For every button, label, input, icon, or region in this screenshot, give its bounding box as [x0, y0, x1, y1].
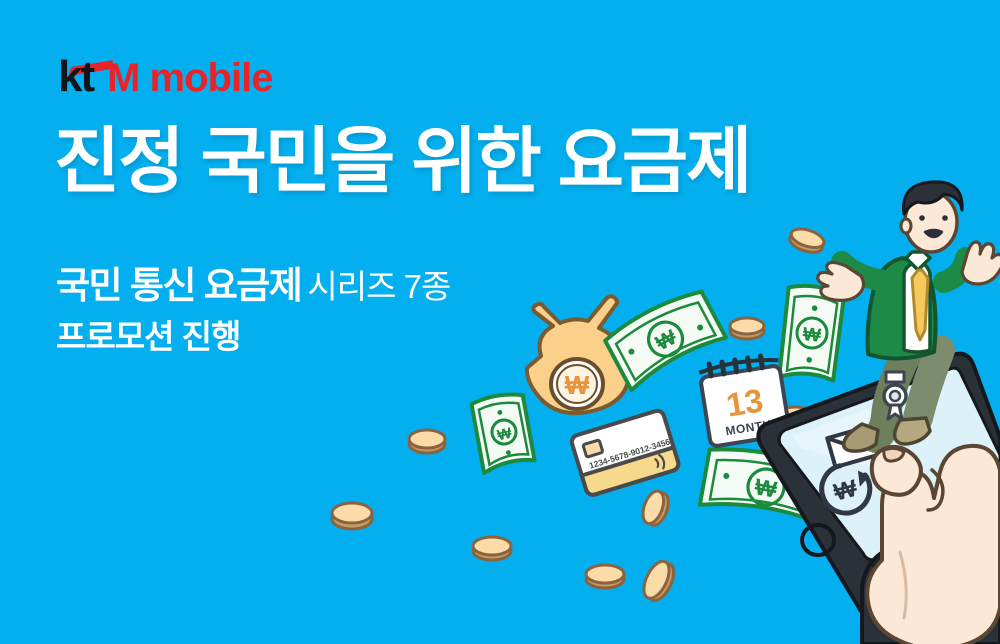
envelope-icon	[827, 423, 889, 467]
subheadline-light-text: 시리즈 7종	[307, 268, 450, 305]
money-bag-icon: ₩	[527, 296, 629, 413]
eye	[919, 215, 925, 221]
banknote-icon: ₩	[779, 284, 844, 383]
shoe-icon	[895, 418, 930, 444]
banknote-icon: ₩	[700, 443, 833, 526]
svg-text:₩: ₩	[831, 475, 860, 507]
holding-hand	[862, 446, 1000, 644]
logo-m-mobile-text: M mobile	[107, 58, 272, 98]
contactless-icon	[654, 454, 665, 470]
medal-icon	[884, 372, 906, 419]
calendar-day-number: 13	[724, 381, 766, 423]
logo-kt-text: kt	[58, 52, 93, 101]
subheadline-line-1: 국민 통신 요금제시리즈 7종	[56, 262, 450, 311]
svg-text:₩: ₩	[802, 324, 822, 347]
coin-icon	[730, 318, 764, 339]
coin-icon	[639, 557, 679, 604]
person-illustration	[818, 182, 1000, 451]
kt-m-mobile-logo[interactable]: kt M mobile	[58, 55, 272, 99]
promo-banner: ₩ 1234-5678-9012-3456 ₩	[0, 0, 1000, 644]
calendar-icon: 13 MONTH	[698, 353, 790, 447]
svg-text:₩: ₩	[753, 473, 779, 502]
coin-icon	[787, 225, 826, 255]
coin-icon	[409, 430, 445, 453]
svg-text:₩: ₩	[496, 424, 514, 444]
hand-icon	[818, 262, 864, 300]
shoe-icon	[844, 424, 878, 451]
logo-kt-mark: kt	[58, 55, 97, 99]
eye	[942, 215, 948, 221]
coin-icon	[778, 407, 812, 428]
calendar-unit-label: MONTH	[725, 417, 773, 438]
subheadline: 국민 통신 요금제시리즈 7종 프로모션 진행	[56, 262, 450, 358]
hand-icon	[962, 242, 1000, 284]
smartphone: ₩	[758, 354, 1000, 620]
coin-icon	[332, 503, 372, 529]
won-refresh-icon: ₩	[817, 459, 877, 518]
svg-text:1234-5678-9012-3456: 1234-5678-9012-3456	[588, 436, 672, 470]
svg-text:₩: ₩	[652, 326, 680, 356]
coin-icon	[639, 488, 672, 528]
subheadline-line-2: 프로모션 진행	[56, 315, 450, 359]
svg-text:₩: ₩	[565, 370, 590, 400]
coin-icon	[586, 565, 624, 588]
banknote-icon: ₩	[469, 390, 537, 473]
page-title: 진정 국민을 위한 요금제	[54, 124, 750, 200]
coin-icon	[473, 537, 511, 560]
banknote-icon: ₩	[603, 285, 727, 390]
subheadline-strong-text: 국민 통신 요금제	[56, 265, 301, 306]
credit-card-icon: 1234-5678-9012-3456	[570, 409, 680, 496]
